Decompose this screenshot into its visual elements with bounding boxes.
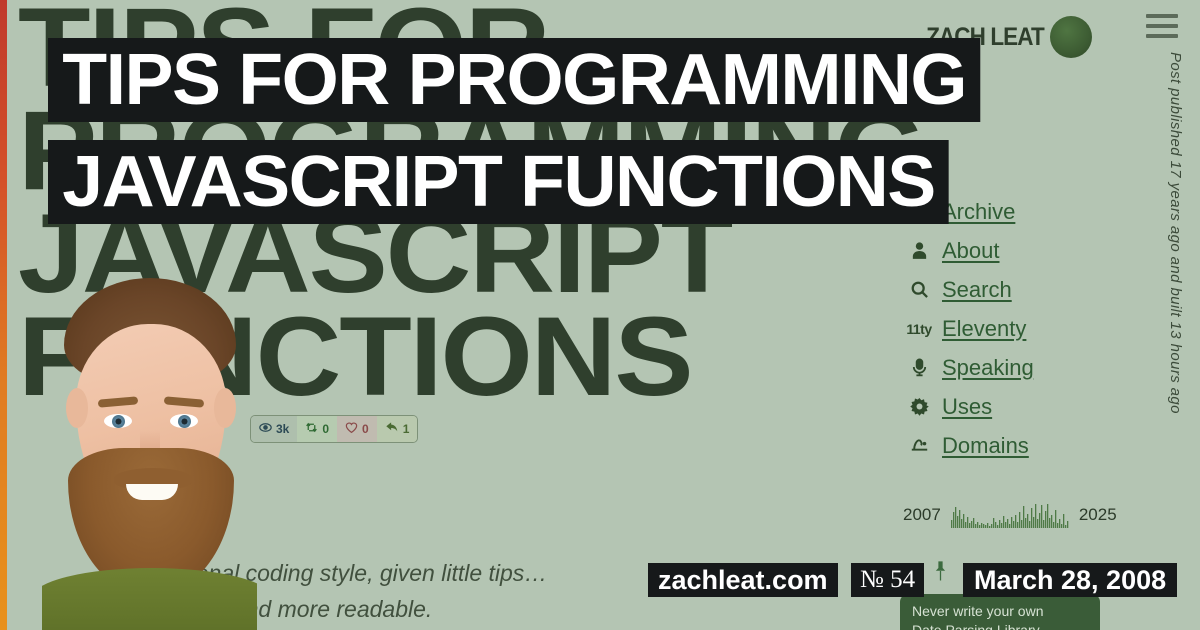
reply-icon: [385, 421, 399, 438]
stat-replies-value: 1: [403, 422, 410, 436]
sidebar-item-uses[interactable]: Uses: [908, 393, 1034, 420]
archive-start-year: 2007: [903, 505, 941, 525]
archive-year-range[interactable]: 2007: [903, 502, 1117, 528]
sidebar-item-archive-label: Archive: [942, 199, 1015, 225]
stat-reposts-value: 0: [322, 422, 329, 436]
stat-likes[interactable]: 0: [337, 416, 377, 442]
sidebar-item-speaking-label: Speaking: [942, 355, 1034, 381]
heart-icon: [345, 421, 358, 437]
sidebar-item-domains-label: Domains: [942, 433, 1029, 459]
gear-icon: [908, 397, 930, 416]
engagement-stats: 3k 0 0 1: [250, 415, 418, 443]
person-icon: [908, 241, 930, 260]
archive-end-year: 2025: [1079, 505, 1117, 525]
hamburger-menu-icon[interactable]: [1146, 14, 1178, 38]
site-domain-chip: zachleat.com: [648, 563, 838, 597]
stat-reposts[interactable]: 0: [297, 416, 337, 442]
sidebar-item-about-label: About: [942, 238, 1000, 264]
site-navigation: Archive About Search 11ty Eleventy: [908, 198, 1034, 459]
sidebar-item-domains[interactable]: Domains: [908, 432, 1034, 459]
sidebar-item-search-label: Search: [942, 277, 1012, 303]
page-title-line-2: JAVASCRIPT FUNCTIONS: [48, 140, 949, 224]
issue-number-chip: № 54: [851, 563, 924, 597]
11ty-icon: 11ty: [908, 321, 930, 337]
avatar-icon: [1050, 16, 1092, 58]
sidebar-item-speaking[interactable]: Speaking: [908, 354, 1034, 381]
sidebar-item-search[interactable]: Search: [908, 276, 1034, 303]
post-published-meta: Post published 17 years ago and built 13…: [1167, 52, 1184, 414]
page-title-line-1: TIPS FOR PROGRAMMING: [48, 38, 980, 122]
domains-icon: [908, 436, 930, 455]
repost-icon: [305, 421, 318, 437]
search-icon: [908, 280, 930, 299]
stat-likes-value: 0: [362, 422, 369, 436]
sidebar-item-eleventy-label: Eleventy: [942, 316, 1026, 342]
sidebar-item-uses-label: Uses: [942, 394, 992, 420]
author-portrait-photo: [42, 272, 257, 630]
eye-icon: [259, 421, 272, 437]
sidebar-item-about[interactable]: About: [908, 237, 1034, 264]
post-date-chip: March 28, 2008: [963, 563, 1177, 597]
accent-edge-stripe: [0, 0, 7, 630]
related-post-tooltip[interactable]: Never write your own Date Parsing Librar…: [900, 594, 1100, 630]
stat-replies[interactable]: 1: [377, 416, 418, 442]
microphone-icon: [908, 358, 930, 377]
sidebar-item-eleventy[interactable]: 11ty Eleventy: [908, 315, 1034, 342]
sparkline-chart: [951, 502, 1069, 528]
stat-views[interactable]: 3k: [251, 416, 297, 442]
pin-icon: [932, 560, 949, 590]
stat-views-value: 3k: [276, 422, 289, 436]
